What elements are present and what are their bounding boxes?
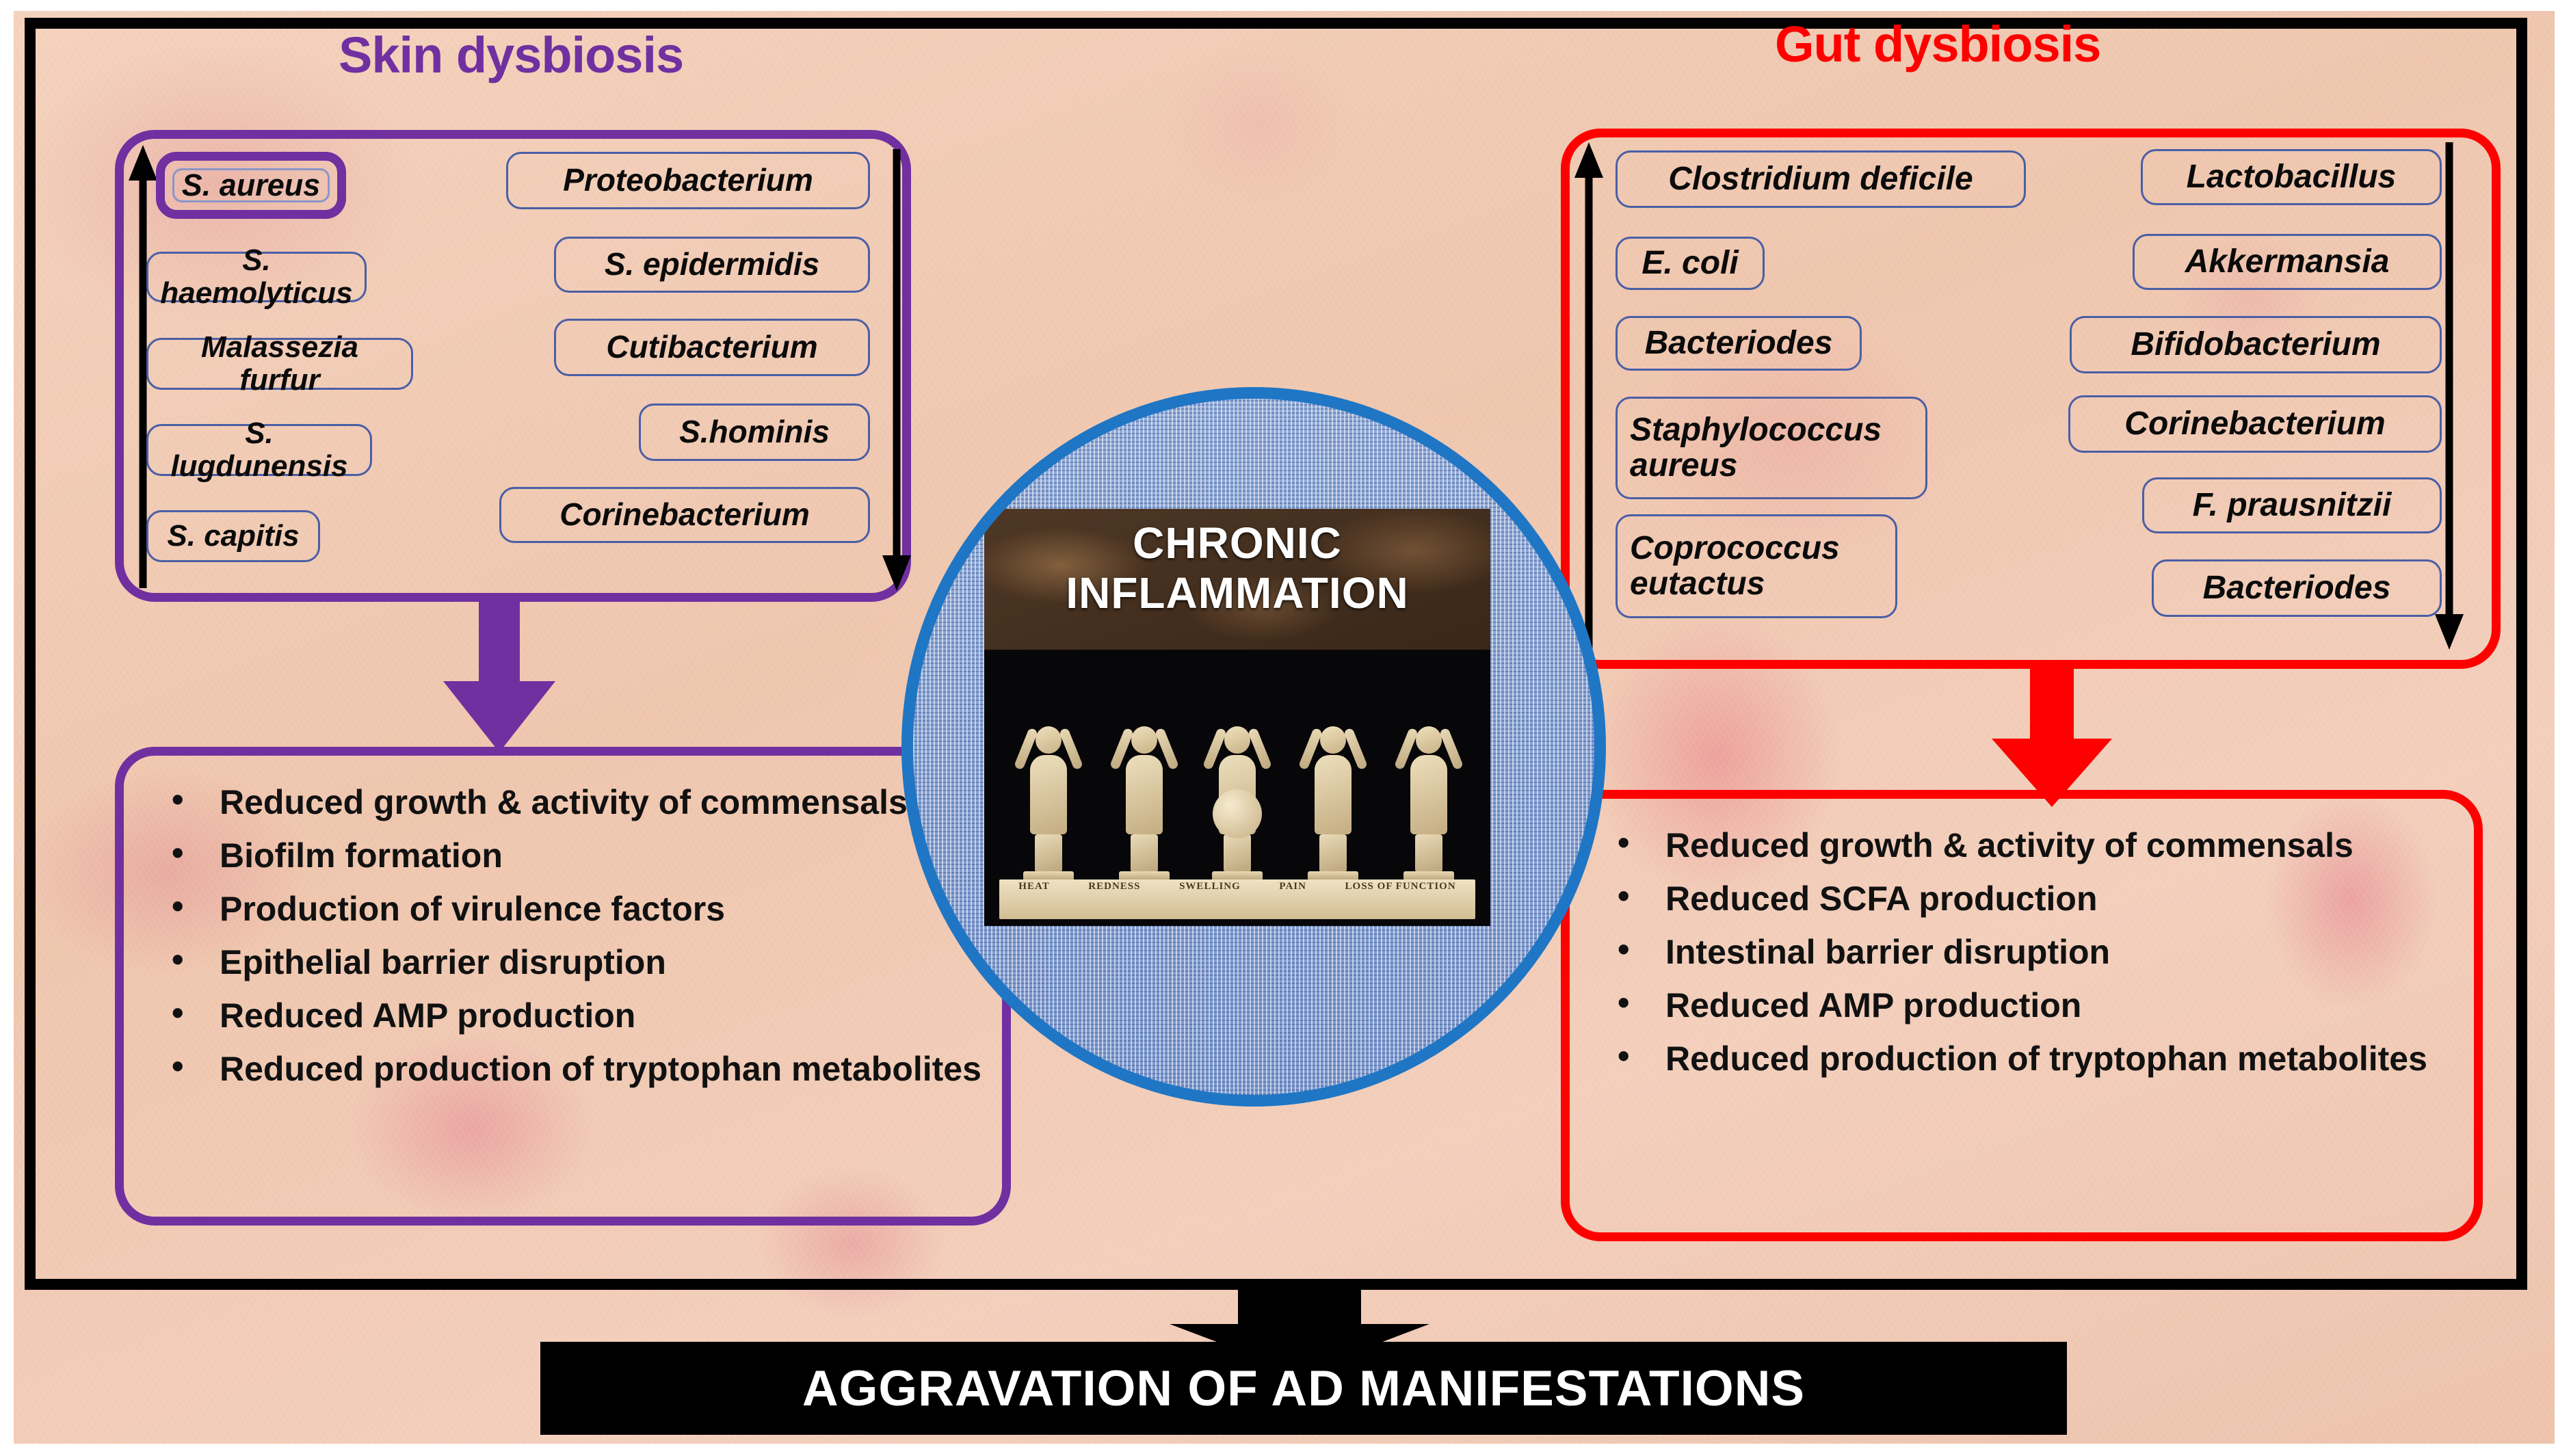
chip-label: Akkermansia xyxy=(2185,244,2390,280)
list-item: Reduced production of tryptophan metabol… xyxy=(165,1047,981,1091)
gut-increase-arrow-icon xyxy=(1573,142,1605,650)
list-item: Intestinal barrier disruption xyxy=(1611,930,2453,974)
chronic-inflammation-line1: CHRONIC xyxy=(984,518,1490,568)
chip-label: S.hominis xyxy=(679,415,830,449)
chip-skin-increased-4[interactable]: S. capitis xyxy=(146,510,320,562)
gut-dysbiosis-title: Gut dysbiosis xyxy=(1775,15,2100,73)
chip-gut-decreased-2[interactable]: Bifidobacterium xyxy=(2070,316,2442,373)
chip-skin-decreased-1[interactable]: S. epidermidis xyxy=(554,237,870,293)
statue-swelling xyxy=(1198,726,1277,881)
chip-label: S. aureus xyxy=(182,169,321,202)
chip-gut-decreased-1[interactable]: Akkermansia xyxy=(2133,234,2442,290)
chip-label: Staphylococcus aureus xyxy=(1630,412,1913,484)
skin-decrease-arrow-icon xyxy=(881,149,912,591)
statue-pain xyxy=(1293,726,1373,881)
plinth-label-pain: PAIN xyxy=(1279,882,1306,892)
chip-label: Proteobacterium xyxy=(563,163,813,198)
chip-label: Corinebacterium xyxy=(2124,406,2385,442)
chip-label: S. capitis xyxy=(167,520,299,553)
chip-skin-increased-0[interactable]: S. aureus xyxy=(156,152,346,219)
list-item: Epithelial barrier disruption xyxy=(165,940,981,984)
chronic-inflammation-line2: INFLAMMATION xyxy=(984,568,1490,618)
outcome-banner-text: AGGRAVATION OF AD MANIFESTATIONS xyxy=(802,1360,1805,1417)
plinth-label-loss-of-function: LOSS OF FUNCTION xyxy=(1345,882,1456,892)
chip-skin-decreased-4[interactable]: Corinebacterium xyxy=(499,487,870,543)
chip-label: Bacteriodes xyxy=(1645,326,1833,361)
chip-gut-increased-3[interactable]: Staphylococcus aureus xyxy=(1616,397,1927,499)
chip-label: Malassezia furfur xyxy=(161,331,399,396)
list-item: Production of virulence factors xyxy=(165,887,981,931)
plinth-label-heat: HEAT xyxy=(1018,882,1049,892)
gut-consequences-list: Reduced growth & activity of commensals … xyxy=(1570,799,2474,1081)
chip-label: Bifidobacterium xyxy=(2131,327,2380,362)
chip-skin-increased-1[interactable]: S. haemolyticus xyxy=(146,252,367,302)
chip-label: F. prausnitzii xyxy=(2193,488,2392,523)
chip-label: Coprococcus eutactus xyxy=(1630,531,1883,602)
skin-consequences-box: Reduced growth & activity of commensals … xyxy=(115,747,1011,1226)
chip-label: S. haemolyticus xyxy=(160,244,352,309)
chip-skin-decreased-3[interactable]: S.hominis xyxy=(639,403,870,461)
statue-loss-of-function xyxy=(1389,726,1468,881)
chip-gut-decreased-3[interactable]: Corinebacterium xyxy=(2068,395,2442,453)
list-item: Biofilm formation xyxy=(165,834,981,877)
chip-skin-increased-3[interactable]: S. lugdunensis xyxy=(146,424,372,476)
chip-gut-increased-0[interactable]: Clostridium deficile xyxy=(1616,150,2026,208)
list-item: Reduced AMP production xyxy=(165,994,981,1037)
chip-skin-decreased-2[interactable]: Cutibacterium xyxy=(554,319,870,376)
chip-label: S. epidermidis xyxy=(605,248,819,282)
chip-gut-decreased-0[interactable]: Lactobacillus xyxy=(2141,149,2442,205)
chip-label: Clostridium deficile xyxy=(1668,161,1973,197)
statue-redness xyxy=(1105,726,1184,881)
chip-gut-decreased-4[interactable]: F. prausnitzii xyxy=(2142,477,2442,533)
list-item: Reduced growth & activity of commensals xyxy=(1611,823,2453,867)
gut-consequences-box: Reduced growth & activity of commensals … xyxy=(1561,790,2483,1241)
chip-label: Corinebacterium xyxy=(559,498,810,532)
plinth-label-redness: REDNESS xyxy=(1088,882,1140,892)
chip-label: Lactobacillus xyxy=(2187,159,2397,195)
list-item: Reduced production of tryptophan metabol… xyxy=(1611,1037,2453,1081)
chip-skin-increased-2[interactable]: Malassezia furfur xyxy=(146,338,413,390)
statue-heat xyxy=(1009,726,1088,881)
skin-consequences-list: Reduced growth & activity of commensals … xyxy=(124,756,1002,1091)
list-item: Reduced growth & activity of commensals xyxy=(165,780,981,824)
statue-plinth: HEAT REDNESS SWELLING PAIN LOSS OF FUNCT… xyxy=(999,879,1475,919)
chip-gut-increased-4[interactable]: Coprococcus eutactus xyxy=(1616,514,1897,618)
skin-to-consequences-arrow-icon xyxy=(410,594,588,758)
chip-gut-increased-1[interactable]: E. coli xyxy=(1616,237,1765,290)
list-item: Reduced AMP production xyxy=(1611,983,2453,1027)
chip-label: Bacteriodes xyxy=(2203,570,2391,606)
plinth-label-swelling: SWELLING xyxy=(1179,882,1241,892)
chip-label: Cutibacterium xyxy=(606,330,817,365)
skin-dysbiosis-title: Skin dysbiosis xyxy=(339,26,683,84)
list-item: Reduced SCFA production xyxy=(1611,877,2453,921)
outcome-banner: AGGRAVATION OF AD MANIFESTATIONS xyxy=(540,1342,2067,1435)
cardinal-signs-statues: HEAT REDNESS SWELLING PAIN LOSS OF FUNCT… xyxy=(984,650,1490,926)
chronic-inflammation-image: CHRONIC INFLAMMATION xyxy=(984,509,1490,926)
chip-gut-decreased-5[interactable]: Bacteriodes xyxy=(2152,559,2442,617)
chip-label: S. lugdunensis xyxy=(161,417,358,482)
chronic-inflammation-circle: CHRONIC INFLAMMATION xyxy=(901,387,1606,1107)
chip-label: E. coli xyxy=(1642,246,1738,281)
chip-skin-decreased-0[interactable]: Proteobacterium xyxy=(506,152,870,209)
chip-gut-increased-2[interactable]: Bacteriodes xyxy=(1616,316,1862,371)
chronic-inflammation-banner: CHRONIC INFLAMMATION xyxy=(984,509,1490,650)
